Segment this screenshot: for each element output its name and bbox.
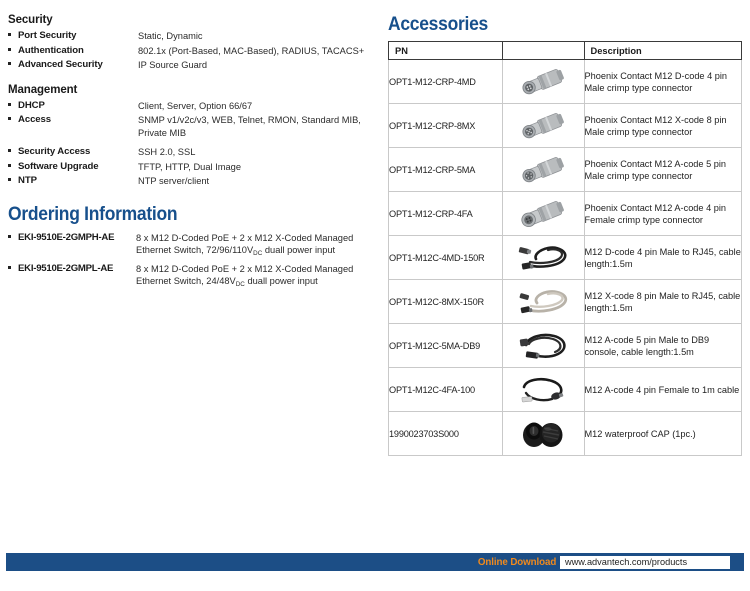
footer-bar: Online Download www.advantech.com/produc… bbox=[6, 553, 744, 571]
dc-subscript: DC bbox=[236, 281, 245, 288]
column-header-pn: PN bbox=[389, 42, 503, 60]
cell-description: M12 A-code 5 pin Male to DB9 console, ca… bbox=[584, 324, 741, 368]
cell-image bbox=[503, 280, 584, 324]
table-row: OPT1-M12-CRP-4MD bbox=[389, 60, 742, 104]
bullet-icon bbox=[8, 113, 18, 120]
spec-label: Port Security bbox=[18, 29, 138, 43]
spec-label: DHCP bbox=[18, 99, 138, 113]
spec-value: Client, Server, Option 66/67 bbox=[138, 99, 376, 113]
datasheet-page: Security Port Security Static, Dynamic A… bbox=[0, 0, 750, 591]
cell-description: M12 A-code 4 pin Female to 1m cable bbox=[584, 368, 741, 412]
bullet-icon bbox=[8, 262, 18, 269]
spec-row: Advanced Security IP Source Guard bbox=[8, 58, 376, 72]
ordering-row: EKI-9510E-2GMPL-AE 8 x M12 D-Coded PoE +… bbox=[8, 262, 376, 290]
cell-pn: 1990023703S000 bbox=[389, 412, 503, 456]
spec-value: SSH 2.0, SSL bbox=[138, 145, 376, 159]
bullet-icon bbox=[8, 160, 18, 167]
bullet-icon bbox=[8, 44, 18, 51]
column-header-description: Description bbox=[584, 42, 741, 60]
table-row: OPT1-M12C-8MX-150R M12 X-co bbox=[389, 280, 742, 324]
spec-value: NTP server/client bbox=[138, 174, 376, 188]
table-row: OPT1-M12-CRP-5MA bbox=[389, 148, 742, 192]
spec-value: IP Source Guard bbox=[138, 58, 376, 72]
spec-label: Security Access bbox=[18, 145, 138, 159]
cell-pn: OPT1-M12-CRP-5MA bbox=[389, 148, 503, 192]
ordering-desc-tail: duall power input bbox=[262, 245, 335, 255]
m12-connector-icon bbox=[515, 155, 571, 185]
spec-row: Security Access SSH 2.0, SSL bbox=[8, 145, 376, 159]
cell-description: Phoenix Contact M12 X-code 8 pin Male cr… bbox=[584, 104, 741, 148]
cell-image bbox=[503, 192, 584, 236]
cell-image bbox=[503, 236, 584, 280]
spec-row: NTP NTP server/client bbox=[8, 174, 376, 188]
cell-pn: OPT1-M12C-4MD-150R bbox=[389, 236, 503, 280]
bullet-icon bbox=[8, 29, 18, 36]
cell-image bbox=[503, 104, 584, 148]
ordering-heading: Ordering Information bbox=[8, 204, 347, 226]
table-row: OPT1-M12C-4MD-150R bbox=[389, 236, 742, 280]
table-row: OPT1-M12-CRP-4FA bbox=[389, 192, 742, 236]
bullet-icon bbox=[8, 99, 18, 106]
bullet-icon bbox=[8, 145, 18, 152]
management-section: Management DHCP Client, Server, Option 6… bbox=[8, 84, 376, 188]
cell-pn: OPT1-M12-CRP-4MD bbox=[389, 60, 503, 104]
bullet-icon bbox=[8, 58, 18, 65]
accessories-heading: Accessories bbox=[388, 14, 714, 36]
cell-description: Phoenix Contact M12 A-code 5 pin Male cr… bbox=[584, 148, 741, 192]
bullet-icon bbox=[8, 174, 18, 181]
column-header-image bbox=[503, 42, 584, 60]
security-section: Security Port Security Static, Dynamic A… bbox=[8, 14, 376, 72]
cell-pn: OPT1-M12-CRP-8MX bbox=[389, 104, 503, 148]
cell-description: M12 waterproof CAP (1pc.) bbox=[584, 412, 741, 456]
ordering-part-number: EKI-9510E-2GMPH-AE bbox=[18, 231, 136, 245]
spec-label: Software Upgrade bbox=[18, 160, 138, 174]
bullet-icon bbox=[8, 231, 18, 238]
black-cable-icon bbox=[512, 329, 574, 363]
cell-pn: OPT1-M12C-4FA-100 bbox=[389, 368, 503, 412]
ordering-row: EKI-9510E-2GMPH-AE 8 x M12 D-Coded PoE +… bbox=[8, 231, 376, 259]
cell-pn: OPT1-M12C-8MX-150R bbox=[389, 280, 503, 324]
ordering-part-number: EKI-9510E-2GMPL-AE bbox=[18, 262, 136, 276]
spec-value: TFTP, HTTP, Dual Image bbox=[138, 160, 376, 174]
table-header-row: PN Description bbox=[389, 42, 742, 60]
download-url[interactable]: www.advantech.com/products bbox=[560, 556, 730, 569]
management-heading: Management bbox=[8, 84, 376, 96]
spec-row: Software Upgrade TFTP, HTTP, Dual Image bbox=[8, 160, 376, 174]
table-row: 1990023703S000 bbox=[389, 412, 742, 456]
left-column: Security Port Security Static, Dynamic A… bbox=[8, 14, 376, 293]
table-row: OPT1-M12C-5MA-DB9 M12 A-cod bbox=[389, 324, 742, 368]
ordering-description: 8 x M12 D-Coded PoE + 2 x M12 X-Coded Ma… bbox=[136, 231, 376, 259]
table-body: OPT1-M12-CRP-4MD bbox=[389, 60, 742, 456]
spec-row: Access SNMP v1/v2c/v3, WEB, Telnet, RMON… bbox=[8, 113, 376, 139]
cell-description: M12 D-code 4 pin Male to RJ45, cable len… bbox=[584, 236, 741, 280]
cell-image bbox=[503, 412, 584, 456]
cell-image bbox=[503, 148, 584, 192]
spec-value: Static, Dynamic bbox=[138, 29, 376, 43]
spec-label: Advanced Security bbox=[18, 58, 138, 72]
table-row: OPT1-M12-CRP-8MX bbox=[389, 104, 742, 148]
cell-description: Phoenix Contact M12 D-code 4 pin Male cr… bbox=[584, 60, 741, 104]
spec-label: Access bbox=[18, 113, 138, 127]
cell-pn: OPT1-M12C-5MA-DB9 bbox=[389, 324, 503, 368]
black-cable-icon bbox=[512, 241, 574, 275]
m12-connector-icon bbox=[515, 199, 571, 229]
m12-connector-icon bbox=[515, 111, 571, 141]
cell-image bbox=[503, 324, 584, 368]
spec-value: SNMP v1/v2c/v3, WEB, Telnet, RMON, Stand… bbox=[138, 113, 376, 139]
security-heading: Security bbox=[8, 14, 376, 26]
spec-row: DHCP Client, Server, Option 66/67 bbox=[8, 99, 376, 113]
cell-image bbox=[503, 368, 584, 412]
black-cable-icon bbox=[512, 373, 574, 407]
ordering-description: 8 x M12 D-Coded PoE + 2 x M12 X-Coded Ma… bbox=[136, 262, 376, 290]
spec-label: NTP bbox=[18, 174, 138, 188]
dc-subscript: DC bbox=[253, 250, 262, 257]
waterproof-cap-icon bbox=[517, 418, 569, 450]
ordering-desc-tail: duall power input bbox=[245, 276, 318, 286]
cell-description: Phoenix Contact M12 A-code 4 pin Female … bbox=[584, 192, 741, 236]
cell-description: M12 X-code 8 pin Male to RJ45, cable len… bbox=[584, 280, 741, 324]
grey-cable-icon bbox=[512, 285, 574, 319]
spec-label: Authentication bbox=[18, 44, 138, 58]
cell-image bbox=[503, 60, 584, 104]
m12-connector-icon bbox=[515, 67, 571, 97]
accessories-table: PN Description OPT1-M12-CRP-4MD bbox=[388, 41, 742, 456]
table-header: PN Description bbox=[389, 42, 742, 60]
spec-row: Authentication 802.1x (Port-Based, MAC-B… bbox=[8, 44, 376, 58]
ordering-section: Ordering Information EKI-9510E-2GMPH-AE … bbox=[8, 204, 376, 290]
table-row: OPT1-M12C-4FA-100 M12 A-cod bbox=[389, 368, 742, 412]
right-column: Accessories PN Description OPT1-M12-CRP-… bbox=[388, 14, 742, 456]
online-download-label: Online Download bbox=[478, 556, 556, 568]
cell-pn: OPT1-M12-CRP-4FA bbox=[389, 192, 503, 236]
spec-row: Port Security Static, Dynamic bbox=[8, 29, 376, 43]
spec-value: 802.1x (Port-Based, MAC-Based), RADIUS, … bbox=[138, 44, 376, 58]
